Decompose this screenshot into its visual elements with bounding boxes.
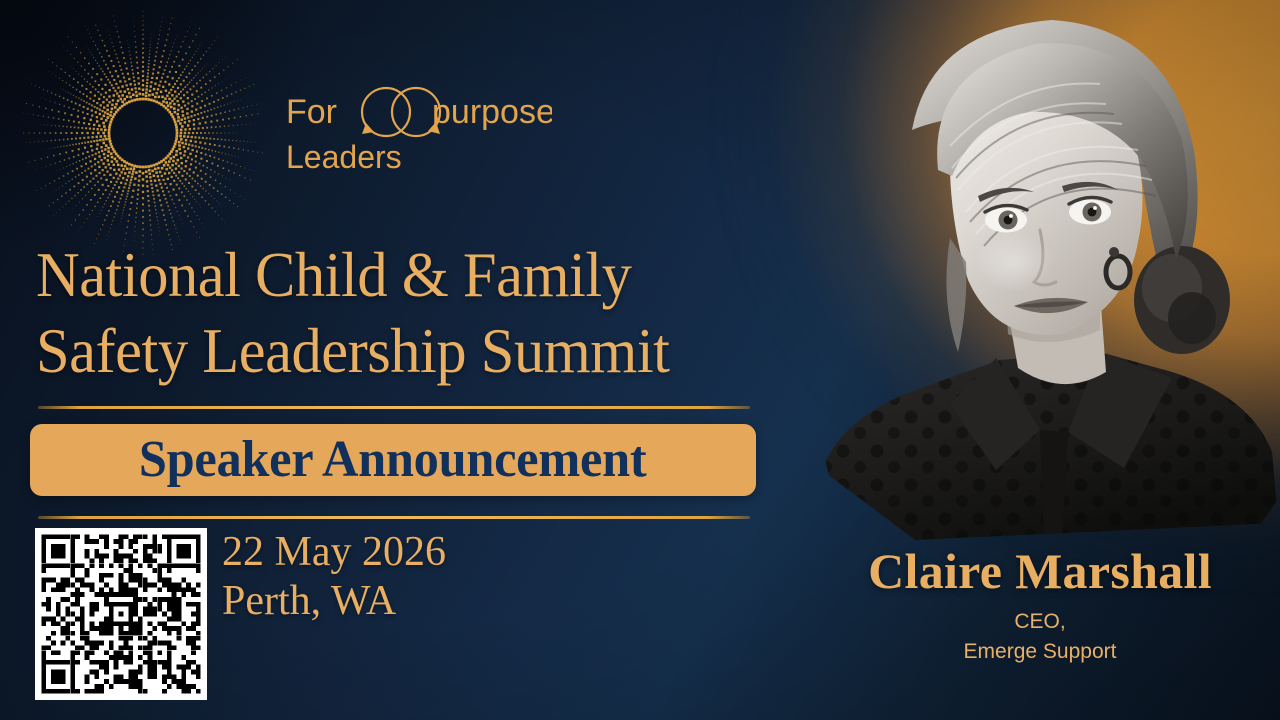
event-date: 22 May 2026 bbox=[222, 528, 642, 577]
event-details: 22 May 2026 Perth, WA bbox=[222, 528, 642, 626]
event-location: Perth, WA bbox=[222, 577, 642, 626]
badge-label: Speaker Announcement bbox=[139, 434, 647, 486]
speaker-photo bbox=[800, 0, 1280, 540]
brand-logo: For purpose Leaders bbox=[282, 78, 552, 178]
speaker-announcement-badge: Speaker Announcement bbox=[30, 424, 756, 496]
speaker-name: Claire Marshall bbox=[800, 545, 1280, 598]
logo-word-leaders: Leaders bbox=[286, 139, 402, 175]
logo-word-purpose: purpose bbox=[432, 93, 552, 131]
divider-bottom bbox=[38, 516, 750, 519]
speaker-role: CEO, bbox=[800, 607, 1280, 637]
logo-word-for: For bbox=[286, 93, 337, 131]
radial-sunburst-icon bbox=[18, 8, 268, 258]
speaker-announcement-poster: For purpose Leaders National Child & Fam… bbox=[0, 0, 1280, 720]
speaker-details: Claire Marshall CEO, Emerge Support bbox=[800, 545, 1280, 667]
divider-top bbox=[38, 406, 750, 409]
portrait-illustration bbox=[800, 0, 1280, 540]
event-title-line-2: Safety Leadership Summit bbox=[36, 314, 833, 390]
speaker-organisation: Emerge Support bbox=[800, 637, 1280, 667]
event-title-line-1: National Child & Family bbox=[36, 238, 833, 314]
qr-code-icon[interactable] bbox=[35, 528, 207, 700]
event-title: National Child & Family Safety Leadershi… bbox=[36, 238, 866, 389]
